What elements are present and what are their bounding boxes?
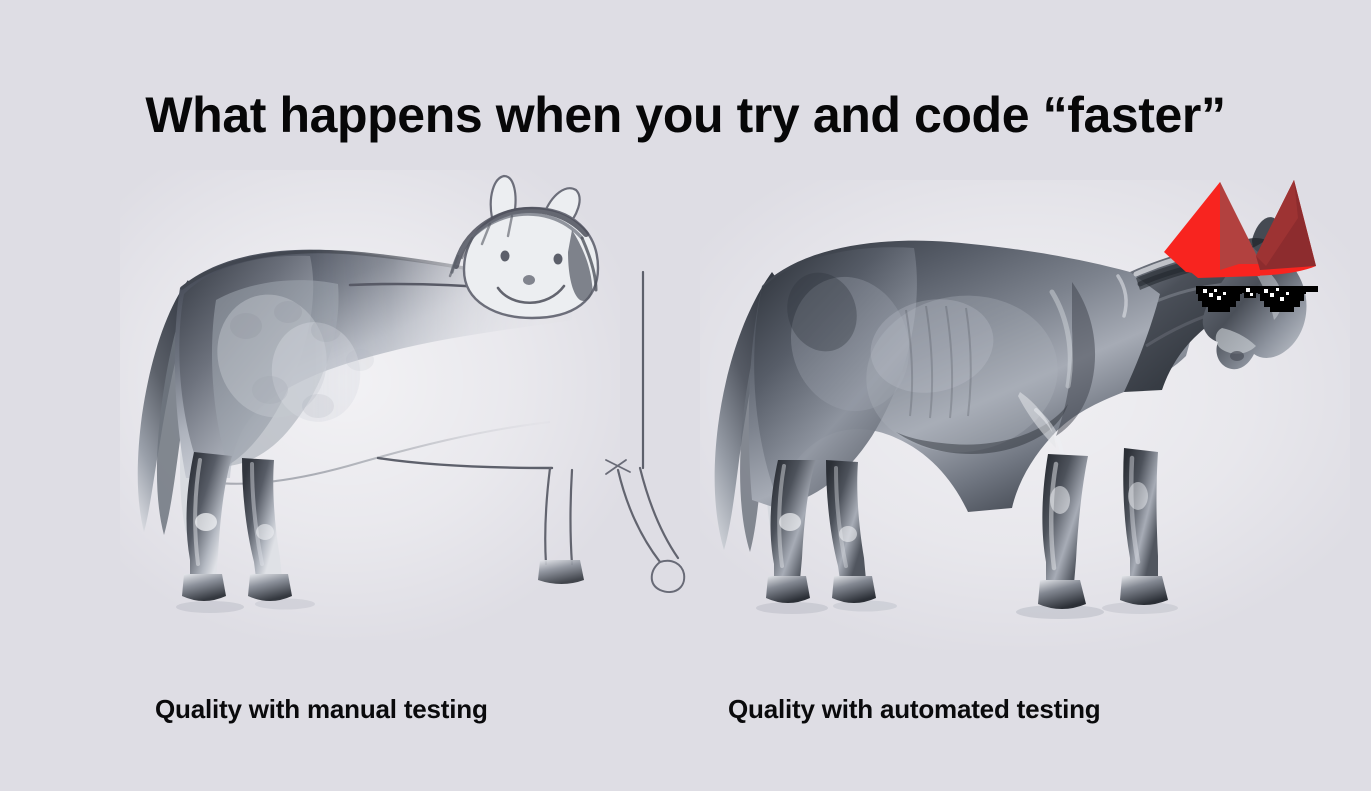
- half-finished-horse-svg: [120, 160, 640, 640]
- left-horse-partial-hoof: [538, 560, 584, 584]
- complete-horse-svg: [700, 160, 1360, 640]
- nostril: [1230, 351, 1244, 361]
- fore-leg-near: [1123, 448, 1158, 580]
- red-paper-crown: [1164, 180, 1316, 278]
- eye-right: [554, 254, 563, 265]
- left-horse-illustration: [120, 160, 640, 640]
- meme-canvas: What happens when you try and code “fast…: [0, 0, 1371, 791]
- hoof-hind-near: [832, 576, 876, 603]
- hoof-hind-near: [248, 574, 292, 601]
- left-horse-cartoon-head: [450, 176, 598, 318]
- eye-left: [501, 251, 510, 262]
- caption-manual-testing: Quality with manual testing: [155, 694, 488, 725]
- left-horse-ground-shadow: [176, 601, 244, 613]
- hoof-hind-far: [182, 574, 226, 601]
- meme-title: What happens when you try and code “fast…: [0, 86, 1371, 144]
- caption-automated-testing: Quality with automated testing: [728, 694, 1100, 725]
- hoof-fore-far: [1038, 580, 1086, 609]
- nose: [523, 275, 535, 285]
- hoof-fore-near: [1120, 576, 1168, 605]
- right-horse-illustration: [700, 160, 1360, 640]
- hoof-hind-far: [766, 576, 810, 603]
